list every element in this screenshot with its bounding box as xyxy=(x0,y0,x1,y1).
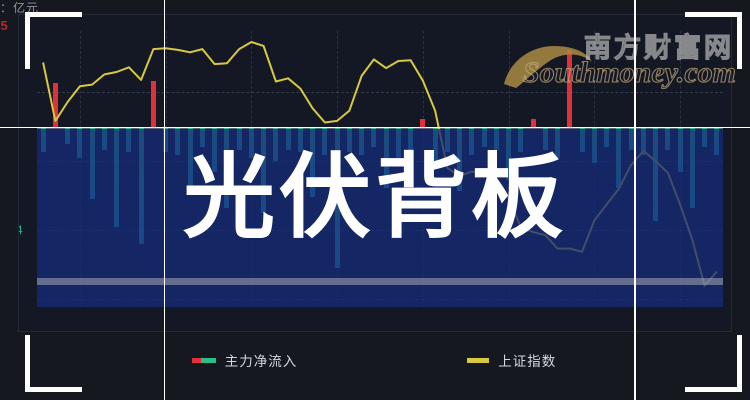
grey-band-overlay xyxy=(37,278,723,285)
legend-label-sse-index: 上证指数 xyxy=(498,350,556,370)
crosshair-vertical-right[interactable] xyxy=(634,0,636,400)
legend-item-sse-index[interactable]: 上证指数 xyxy=(467,350,556,370)
crosshair-horizontal[interactable] xyxy=(0,127,750,129)
crosshair-vertical-left[interactable] xyxy=(164,0,166,400)
top-value-readout: 395 xyxy=(0,18,8,33)
line-swatch-icon xyxy=(467,358,489,363)
legend-label-net-inflow: 主力净流入 xyxy=(225,350,298,370)
legend-item-net-inflow[interactable]: 主力净流入 xyxy=(194,350,298,370)
chart-legend: 主力净流入 上证指数 xyxy=(0,350,750,370)
bar-swatch-icon xyxy=(194,358,216,363)
y-tick-label: -644 xyxy=(18,223,23,237)
screenshot-root: 流入：亿元 395 2022-08-042022-08-152022-08-24… xyxy=(0,0,750,400)
overlay-title: 光伏背板 xyxy=(183,152,567,244)
